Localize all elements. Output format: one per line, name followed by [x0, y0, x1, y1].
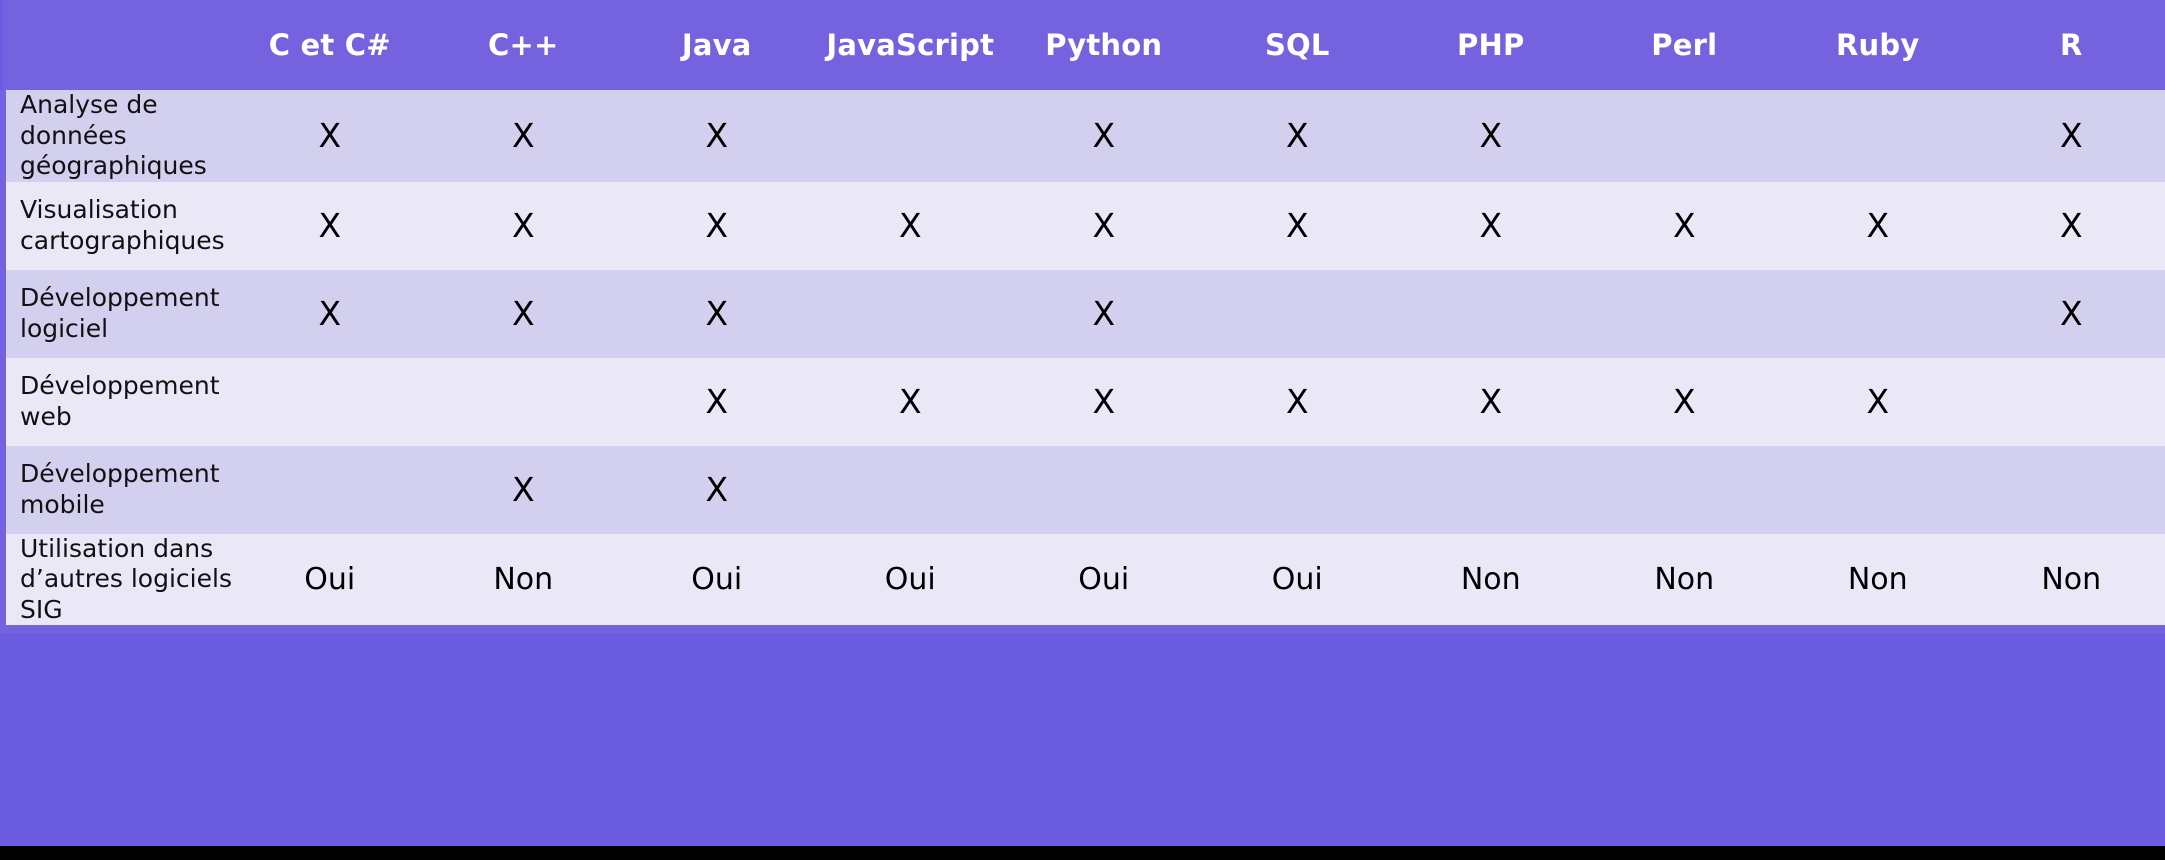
- row-label: Développement logiciel: [3, 270, 233, 358]
- cell-value: Non: [1588, 534, 1782, 630]
- cell-mark: X: [814, 358, 1008, 446]
- cell-mark: X: [814, 182, 1008, 270]
- cell-mark: X: [1394, 182, 1588, 270]
- cell-value: [1781, 446, 1975, 534]
- cell-value: Oui: [814, 534, 1008, 630]
- row-label: Utilisation dans d’autres logiciels SIG: [3, 534, 233, 630]
- column-header-python: Python: [1007, 0, 1201, 90]
- cell-mark: X: [1007, 90, 1201, 182]
- cell-value: [1588, 90, 1782, 182]
- cell-value: [1394, 446, 1588, 534]
- row-label: Développement mobile: [3, 446, 233, 534]
- cell-value: Oui: [1007, 534, 1201, 630]
- table-header: C et C#C++JavaJavaScriptPythonSQLPHPPerl…: [3, 0, 2165, 90]
- table-row: Utilisation dans d’autres logiciels SIGO…: [3, 534, 2165, 630]
- cell-mark: X: [1588, 358, 1782, 446]
- table-body: Analyse de données géographiquesXXXXXXXV…: [3, 90, 2165, 629]
- cell-value: [233, 358, 427, 446]
- cell-mark: X: [427, 446, 621, 534]
- column-header-r: R: [1975, 0, 2165, 90]
- cell-mark: X: [1201, 358, 1395, 446]
- cell-mark: X: [1201, 182, 1395, 270]
- cell-value: [1975, 446, 2165, 534]
- cell-mark: X: [1201, 90, 1395, 182]
- column-header-php: PHP: [1394, 0, 1588, 90]
- cell-value: [1394, 270, 1588, 358]
- cell-mark: X: [620, 446, 814, 534]
- cell-mark: X: [1781, 182, 1975, 270]
- table-row: Développement logicielXXXXX: [3, 270, 2165, 358]
- table-row: Développement mobileXX: [3, 446, 2165, 534]
- column-header-c: C++: [427, 0, 621, 90]
- table-frame: C et C#C++JavaJavaScriptPythonSQLPHPPerl…: [0, 0, 2165, 846]
- table-row: Développement webXXXXXXX: [3, 358, 2165, 446]
- cell-value: [1201, 270, 1395, 358]
- cell-mark: X: [1975, 182, 2165, 270]
- cell-value: Oui: [620, 534, 814, 630]
- column-header-java: Java: [620, 0, 814, 90]
- cell-value: Non: [427, 534, 621, 630]
- cell-value: [1975, 358, 2165, 446]
- cell-value: [1781, 90, 1975, 182]
- cell-mark: X: [1007, 182, 1201, 270]
- cell-value: Non: [1781, 534, 1975, 630]
- cell-value: [1781, 270, 1975, 358]
- row-label: Développement web: [3, 358, 233, 446]
- cell-value: Oui: [1201, 534, 1395, 630]
- cell-value: Non: [1394, 534, 1588, 630]
- cell-value: [1007, 446, 1201, 534]
- table-row: Analyse de données géographiquesXXXXXXX: [3, 90, 2165, 182]
- row-label: Analyse de données géographiques: [3, 90, 233, 182]
- cell-value: [1588, 270, 1782, 358]
- cell-value: [427, 358, 621, 446]
- cell-value: [1201, 446, 1395, 534]
- column-header-perl: Perl: [1588, 0, 1782, 90]
- cell-mark: X: [1007, 358, 1201, 446]
- cell-mark: X: [233, 90, 427, 182]
- cell-value: [814, 446, 1008, 534]
- cell-mark: X: [233, 182, 427, 270]
- cell-mark: X: [1007, 270, 1201, 358]
- language-capability-matrix: C et C#C++JavaJavaScriptPythonSQLPHPPerl…: [0, 0, 2165, 633]
- cell-mark: X: [620, 90, 814, 182]
- cell-mark: X: [1394, 358, 1588, 446]
- column-header-ruby: Ruby: [1781, 0, 1975, 90]
- cell-mark: X: [427, 90, 621, 182]
- cell-value: Non: [1975, 534, 2165, 630]
- cell-mark: X: [1975, 90, 2165, 182]
- row-header-corner: [3, 0, 233, 90]
- cell-mark: X: [1781, 358, 1975, 446]
- cell-mark: X: [620, 182, 814, 270]
- cell-mark: X: [1394, 90, 1588, 182]
- cell-value: [233, 446, 427, 534]
- cell-mark: X: [427, 182, 621, 270]
- cell-value: [814, 270, 1008, 358]
- table-row: Visualisation cartographiquesXXXXXXXXXX: [3, 182, 2165, 270]
- cell-mark: X: [427, 270, 621, 358]
- column-header-javascript: JavaScript: [814, 0, 1008, 90]
- cell-mark: X: [1588, 182, 1782, 270]
- row-label: Visualisation cartographiques: [3, 182, 233, 270]
- cell-mark: X: [620, 358, 814, 446]
- header-row: C et C#C++JavaJavaScriptPythonSQLPHPPerl…: [3, 0, 2165, 90]
- cell-mark: X: [233, 270, 427, 358]
- column-header-c-et-c: C et C#: [233, 0, 427, 90]
- column-header-sql: SQL: [1201, 0, 1395, 90]
- cell-mark: X: [1975, 270, 2165, 358]
- cell-value: Oui: [233, 534, 427, 630]
- cell-value: [1588, 446, 1782, 534]
- cell-value: [814, 90, 1008, 182]
- cell-mark: X: [620, 270, 814, 358]
